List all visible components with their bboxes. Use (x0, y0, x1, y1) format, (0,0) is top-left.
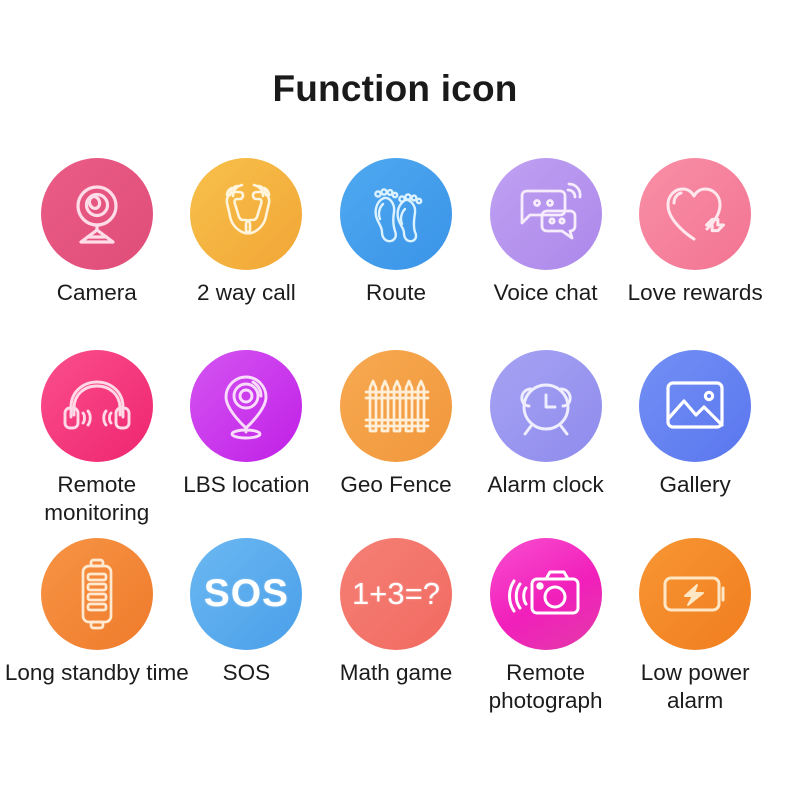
icon-label: Remote photograph (453, 659, 638, 715)
icon-label: Long standby time (4, 659, 189, 687)
footprints-icon (361, 179, 431, 249)
icon-cell-remote-photograph[interactable]: Remote photograph (471, 538, 621, 733)
icon-cell-long-standby-time[interactable]: Long standby time (22, 538, 172, 733)
icon-cell-voice-chat[interactable]: Voice chat (471, 158, 621, 350)
lbs-location-circle[interactable] (190, 350, 302, 462)
icon-row: Camera (22, 158, 770, 350)
icon-label: SOS (166, 659, 326, 687)
icon-label: Voice chat (466, 279, 626, 307)
long-standby-circle[interactable] (41, 538, 153, 650)
sos-circle[interactable]: SOS (190, 538, 302, 650)
icon-label: Geo Fence (316, 471, 476, 499)
voice-chat-circle[interactable] (490, 158, 602, 270)
icon-cell-route[interactable]: Route (321, 158, 471, 350)
icon-cell-gallery[interactable]: Gallery (620, 350, 770, 538)
icon-grid: Camera (22, 158, 770, 733)
icon-cell-geo-fence[interactable]: Geo Fence (321, 350, 471, 538)
low-power-alarm-circle[interactable] (639, 538, 751, 650)
battery-vertical-icon (72, 556, 122, 632)
picture-icon (663, 377, 727, 435)
icon-label: 2 way call (166, 279, 326, 307)
math-game-circle[interactable]: 1+3=? (340, 538, 452, 650)
remote-photograph-circle[interactable] (490, 538, 602, 650)
math-text-icon: 1+3=? (352, 576, 440, 612)
icon-cell-low-power-alarm[interactable]: Low power alarm (620, 538, 770, 733)
icon-cell-alarm-clock[interactable]: Alarm clock (471, 350, 621, 538)
icon-cell-camera[interactable]: Camera (22, 158, 172, 350)
sos-text-icon: SOS (204, 572, 289, 616)
icon-label: LBS location (166, 471, 326, 499)
icon-label: Math game (316, 659, 476, 687)
headphones-icon (60, 375, 134, 437)
icon-cell-2-way-call[interactable]: 2 way call (172, 158, 322, 350)
icon-label: Alarm clock (466, 471, 626, 499)
icon-cell-sos[interactable]: SOS SOS (172, 538, 322, 733)
alarm-clock-circle[interactable] (490, 350, 602, 462)
icon-row: Remote monitoring LBS (22, 350, 770, 538)
icon-label: Route (316, 279, 476, 307)
icon-label: Love rewards (615, 279, 775, 307)
icon-cell-love-rewards[interactable]: Love rewards (620, 158, 770, 350)
camera-circle[interactable] (41, 158, 153, 270)
gallery-circle[interactable] (639, 350, 751, 462)
alarm-clock-icon (511, 371, 581, 441)
geo-fence-circle[interactable] (340, 350, 452, 462)
webcam-icon (63, 180, 131, 248)
icon-label: Low power alarm (615, 659, 775, 715)
speech-bubbles-icon (510, 182, 582, 246)
love-rewards-circle[interactable] (639, 158, 751, 270)
icon-row: Long standby time SOS SOS 1+3=? Math gam… (22, 538, 770, 733)
heart-reward-icon (660, 181, 730, 247)
route-circle[interactable] (340, 158, 452, 270)
two-way-call-circle[interactable] (190, 158, 302, 270)
icon-cell-lbs-location[interactable]: LBS location (172, 350, 322, 538)
remote-monitoring-circle[interactable] (41, 350, 153, 462)
two-phones-icon (210, 180, 282, 248)
icon-label: Camera (17, 279, 177, 307)
battery-bolt-icon (660, 570, 730, 618)
map-pin-icon (215, 370, 277, 442)
fence-icon (360, 374, 432, 438)
icon-label: Remote monitoring (4, 471, 189, 527)
icon-cell-remote-monitoring[interactable]: Remote monitoring (22, 350, 172, 538)
page-title: Function icon (0, 68, 790, 110)
icon-label: Gallery (615, 471, 775, 499)
function-icon-poster: Function icon (0, 0, 790, 790)
icon-cell-math-game[interactable]: 1+3=? Math game (321, 538, 471, 733)
remote-camera-icon (510, 566, 582, 622)
